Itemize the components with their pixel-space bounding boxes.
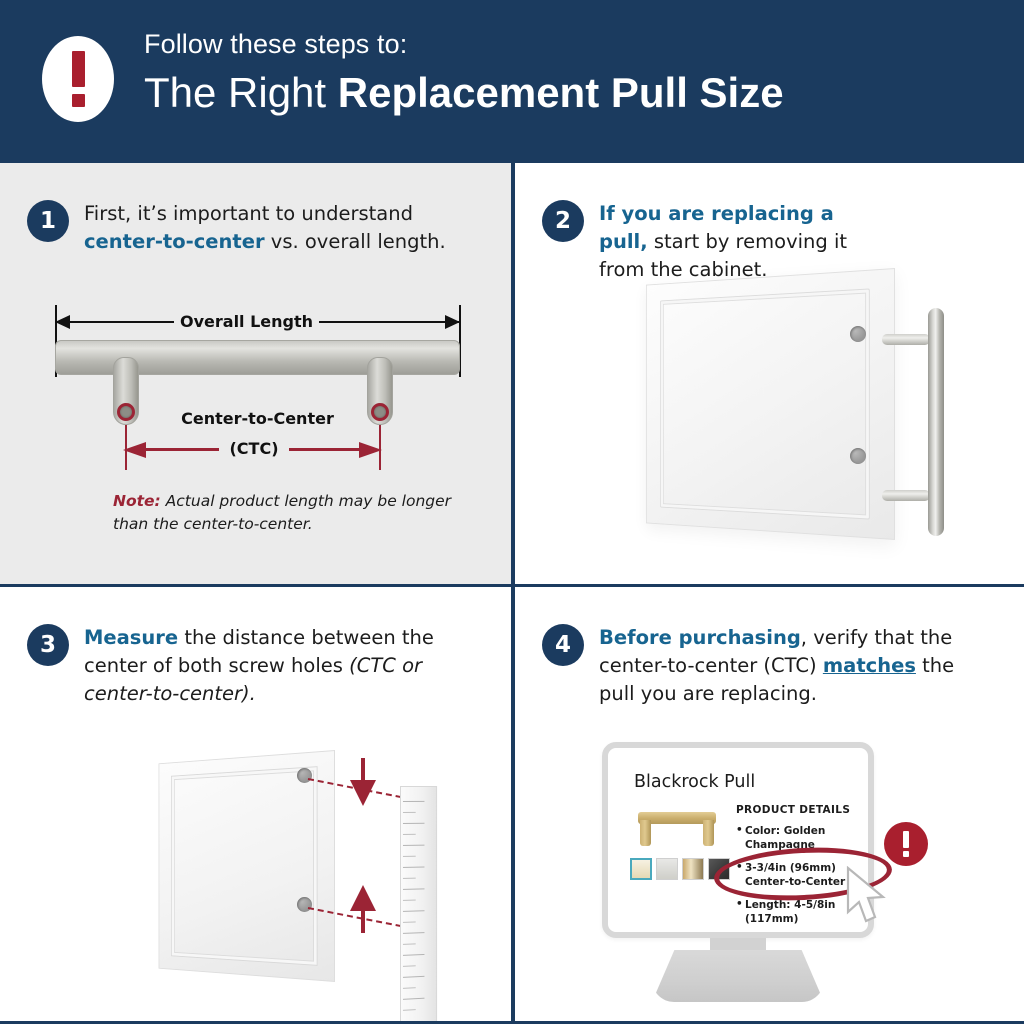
product-thumbnail-3[interactable] [682,858,704,880]
ruler-graphic [400,786,437,1024]
cabinet-door-graphic-step3 [159,750,335,982]
ruler-tick [403,932,425,934]
measure-arrow-down-icon [350,758,376,806]
step-3-heading: 3 Measure the distance between the cente… [27,624,457,708]
product-title: Blackrock Pull [634,772,755,792]
pull-bar-step2 [928,308,944,536]
screw-hole-bottom-step3 [297,897,312,912]
cabinet-door-graphic-step2 [646,268,895,540]
cabinet-pull-graphic-step2 [862,308,952,536]
ctc-arrow-left-icon [123,442,147,458]
exclamation-icon [42,36,114,122]
page-title: The Right Replacement Pull Size [144,70,784,116]
product-details-heading: PRODUCT DETAILS [736,804,868,816]
product-thumbnail-1[interactable] [630,858,652,880]
divider-vertical [511,160,515,1024]
step-3-text: Measure the distance between the center … [84,624,457,708]
ruler-tick [403,987,416,989]
pull-dimension-diagram: Overall Length Center-to-Center (CTC) [45,305,470,470]
step-4-number: 4 [542,624,584,666]
header-text-block: Follow these steps to: The Right Replace… [144,28,784,117]
measure-arrow-up-icon [350,885,376,933]
ruler-tick [403,856,416,857]
step-4-text-accent: Before purchasing [599,626,801,649]
note-prefix: Note: [113,492,161,510]
overall-length-label: Overall Length [174,312,319,331]
ctc-arrow-right-icon [358,442,382,458]
mouse-pointer-icon [845,866,889,928]
ruler-tick [403,845,425,846]
ruler-tick [403,1009,416,1011]
product-thumbnail-strip[interactable] [630,858,730,880]
note-body: Actual product length may be longer than… [113,492,451,533]
ruler-tick [403,976,425,978]
ruler-tick [403,965,416,967]
step-4-text: Before purchasing, verify that the cente… [599,624,992,708]
ruler-tick [403,998,425,1000]
overall-arrow-right-icon [444,315,460,329]
step-1-text-accent: center-to-center [84,230,265,253]
header-banner: Follow these steps to: The Right Replace… [0,0,1024,160]
ruler-tick [403,823,425,824]
ruler-tick [403,943,416,945]
cabinet-door-inner-panel [660,288,870,519]
step-3-number: 3 [27,624,69,666]
infographic-root: Follow these steps to: The Right Replace… [0,0,1024,1024]
ruler-tick [403,801,425,802]
header-kicker: Follow these steps to: [144,28,784,60]
product-detail-color: Color: Golden Champagne [736,825,868,852]
ruler-tick [403,921,416,922]
note-text: Note: Actual product length may be longe… [113,490,473,536]
ruler-tick [403,812,416,813]
step-1-text-b: vs. overall length. [265,230,446,253]
monitor-base [652,950,824,1002]
screw-hole-top-step3 [297,768,312,783]
ruler-tick [403,878,416,879]
page-title-plain: The Right [144,69,338,116]
monitor-graphic: Blackrock Pull PRODUCT DETAILS Color: Go… [602,742,874,1012]
step-1-number: 1 [27,200,69,242]
overall-arrow-left-icon [55,315,71,329]
pull-post-bottom-step2 [882,490,930,501]
product-thumbnail-2[interactable] [656,858,678,880]
page-title-bold: Replacement Pull Size [338,69,784,116]
pull-post-top-step2 [882,334,930,345]
step-3-text-accent: Measure [84,626,178,649]
ruler-tick [403,910,425,912]
step-2-heading: 2 If you are replacing a pull, start by … [542,200,872,284]
ctc-label: Center-to-Center [45,409,470,428]
monitor-screen: Blackrock Pull PRODUCT DETAILS Color: Go… [602,742,874,938]
step-4-heading: 4 Before purchasing, verify that the cen… [542,624,992,708]
ruler-tick [403,888,425,890]
ruler-tick [403,900,416,901]
step-1-heading: 1 First, it’s important to understand ce… [27,200,457,256]
exclamation-icon-step4 [884,822,928,866]
ruler-tick [403,954,425,956]
cabinet-door-inner-panel-step3 [171,766,318,966]
ruler-tick [403,834,416,835]
step-1-text-a: First, it’s important to understand [84,202,413,225]
product-thumbnail-4[interactable] [708,858,730,880]
step-1-text: First, it’s important to understand cent… [84,200,457,256]
step-2-number: 2 [542,200,584,242]
product-hero-image [630,806,724,852]
step-4-text-link[interactable]: matches [823,654,916,677]
ctc-abbrev-label: (CTC) [219,439,289,458]
ruler-tick [403,867,425,868]
